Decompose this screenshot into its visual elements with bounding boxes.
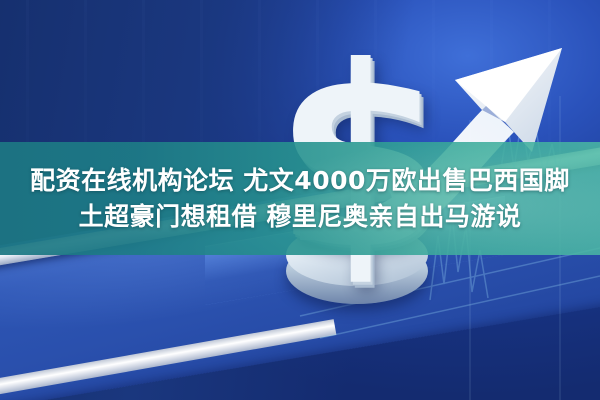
headline-text-block: 配资在线机构论坛 尤文4000万欧出售巴西国脚 土超豪门想租借 穆里尼奥亲自出马…: [0, 142, 600, 255]
headline-line-2: 土超豪门想租借 穆里尼奥亲自出马游说: [79, 203, 522, 231]
banner-image: $ 配资在线机构论坛 尤文4000万欧出售巴西国脚 土超豪门想租借 穆里尼奥亲自…: [0, 0, 600, 400]
headline-line-1: 配资在线机构论坛 尤文4000万欧出售巴西国脚: [30, 167, 570, 195]
